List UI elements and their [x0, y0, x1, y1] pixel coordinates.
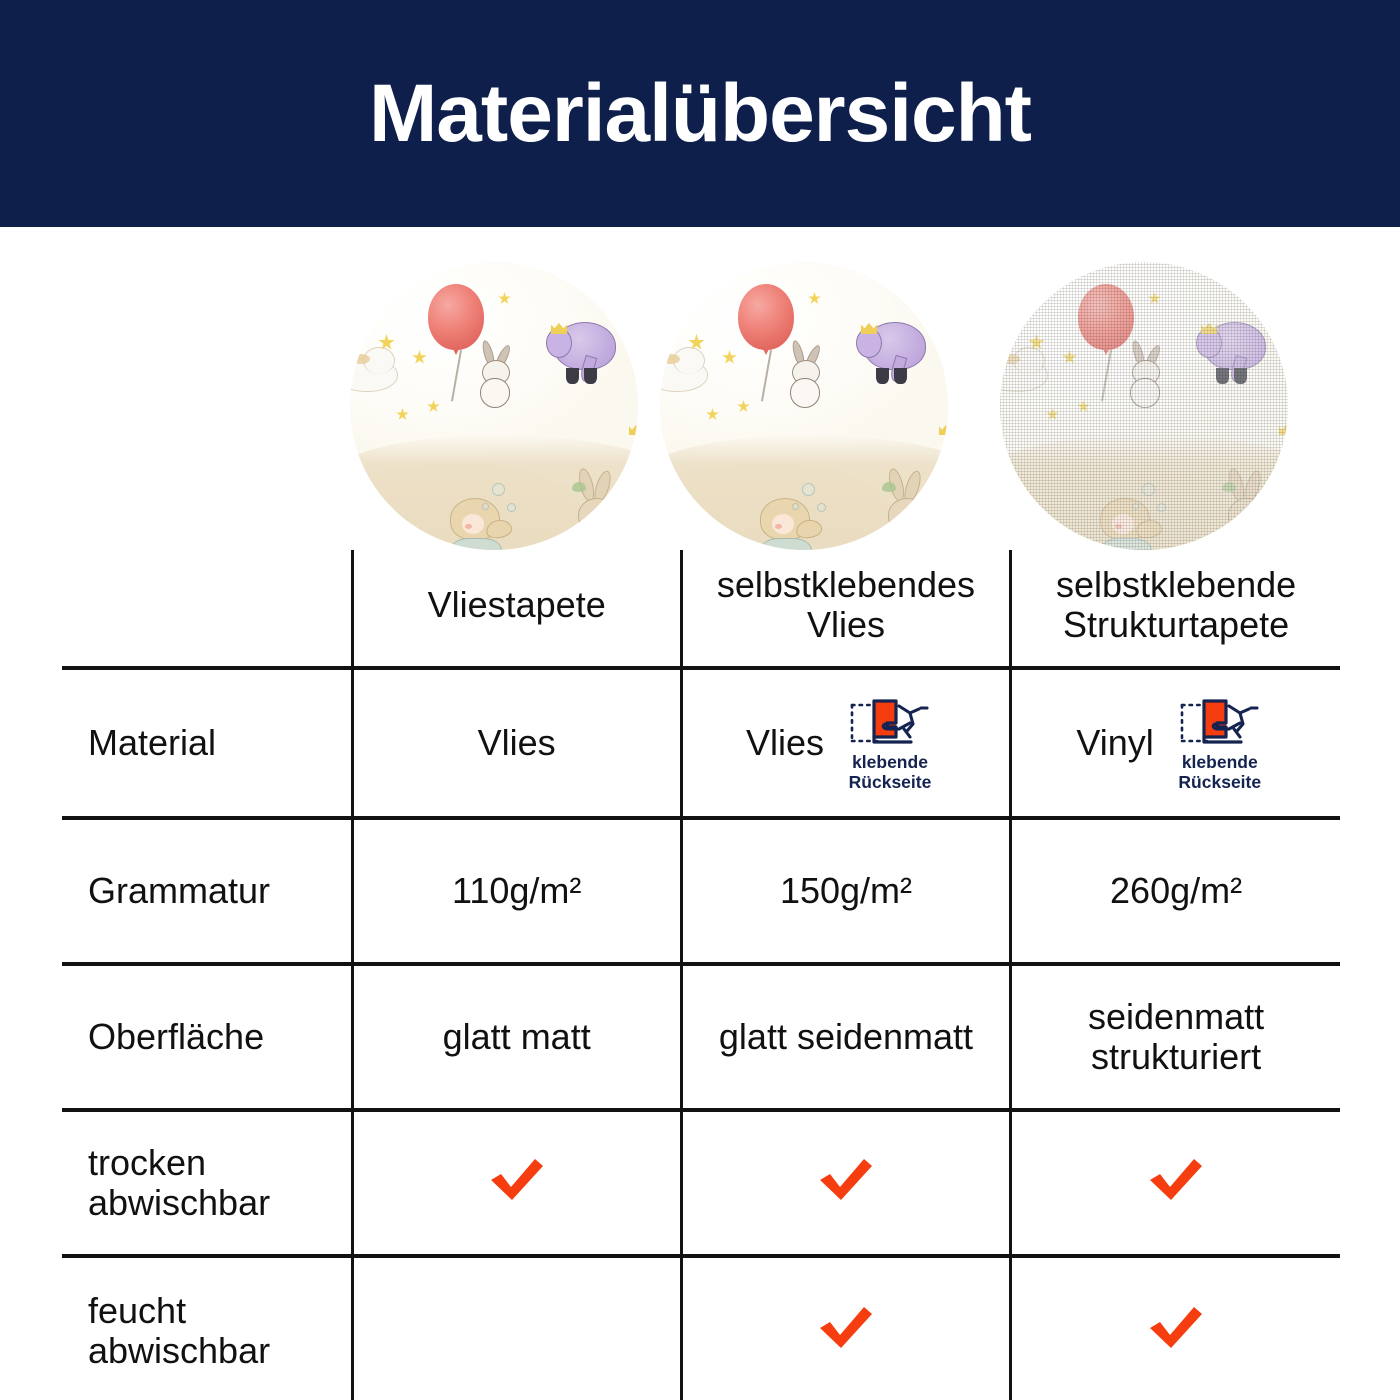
- bubble-icon: [817, 503, 826, 512]
- cell-grammatur-selbstklebendes-vlies: 150g/m²: [681, 818, 1010, 964]
- cell-trocken-selbstklebendes-vlies: [681, 1110, 1010, 1256]
- table-row-material: Material Vlies Vlies: [62, 668, 1340, 818]
- cloud-shadow: [352, 354, 370, 364]
- ground-bunny-icon: [880, 468, 934, 534]
- peel-adhesive-backing-icon: [1177, 693, 1263, 751]
- wallpaper-artwork: [350, 262, 638, 550]
- badge-text: klebendeRückseite: [849, 753, 932, 792]
- row-label-oberflaeche: Oberfläche: [62, 964, 352, 1110]
- table-row-trocken-abwischbar: trocken abwischbar: [62, 1110, 1340, 1256]
- row-label-grammatur: Grammatur: [62, 818, 352, 964]
- header-banner: Materialübersicht: [0, 0, 1400, 227]
- child-icon: [446, 494, 518, 550]
- row-label-material: Material: [62, 668, 352, 818]
- cell-feucht-vliestapete: [352, 1256, 681, 1400]
- table-row-oberflaeche: Oberfläche glatt matt glatt seidenmatt s…: [62, 964, 1340, 1110]
- checkmark-icon: [1144, 1301, 1208, 1353]
- cell-text: Vinyl: [1076, 723, 1153, 763]
- adhesive-backing-badge: klebendeRückseite: [834, 693, 946, 792]
- bubble-icon: [792, 503, 799, 510]
- column-header-vliestapete: Vliestapete: [352, 550, 681, 668]
- cell-material-strukturtapete: Vinyl: [1011, 668, 1340, 818]
- checkmark-icon: [814, 1301, 878, 1353]
- row-label-trocken-abwischbar: trocken abwischbar: [62, 1110, 352, 1256]
- adhesive-backing-badge: klebendeRückseite: [1164, 693, 1276, 792]
- cell-grammatur-vliestapete: 110g/m²: [352, 818, 681, 964]
- cloud-shadow: [662, 354, 680, 364]
- cell-feucht-strukturtapete: [1011, 1256, 1340, 1400]
- table-header-row: Vliestapete selbstklebendes Vlies selbst…: [62, 550, 1340, 668]
- bubble-icon: [802, 483, 815, 496]
- flying-bunny-icon: [472, 340, 528, 412]
- elephant-icon: [854, 314, 942, 386]
- cell-trocken-strukturtapete: [1011, 1110, 1340, 1256]
- checkmark-icon: [814, 1153, 878, 1205]
- material-overview-page: Materialübersicht: [0, 0, 1400, 1400]
- sprout-icon: [882, 482, 896, 492]
- cell-oberflaeche-strukturtapete: seidenmatt strukturiert: [1011, 964, 1340, 1110]
- bubble-icon: [482, 503, 489, 510]
- material-comparison-table: Vliestapete selbstklebendes Vlies selbst…: [62, 550, 1340, 1380]
- flying-bunny-icon: [782, 340, 838, 412]
- cell-text: Vlies: [746, 723, 824, 763]
- row-label-feucht-abwischbar: feucht abwischbar: [62, 1256, 352, 1400]
- sample-swatches: [0, 262, 1400, 550]
- checkmark-icon: [485, 1153, 549, 1205]
- bubble-icon: [492, 483, 505, 496]
- elephant-icon: [544, 314, 632, 386]
- column-header-selbstklebendes-vlies: selbstklebendes Vlies: [681, 550, 1010, 668]
- cell-text: Vlies: [478, 722, 556, 763]
- wallpaper-artwork: [1000, 262, 1288, 550]
- checkmark-icon: [1144, 1153, 1208, 1205]
- table-row-grammatur: Grammatur 110g/m² 150g/m² 260g/m²: [62, 818, 1340, 964]
- badge-text: klebendeRückseite: [1178, 753, 1261, 792]
- bubble-icon: [507, 503, 516, 512]
- page-title: Materialübersicht: [369, 73, 1031, 155]
- structure-texture-overlay: [1000, 262, 1288, 550]
- column-header-strukturtapete: selbstklebende Strukturtapete: [1011, 550, 1340, 668]
- cell-trocken-vliestapete: [352, 1110, 681, 1256]
- cell-material-vliestapete: Vlies: [352, 668, 681, 818]
- child-icon: [756, 494, 828, 550]
- sample-swatch-vliestapete: [350, 262, 638, 550]
- ground-bunny-icon: [570, 468, 624, 534]
- sample-swatch-strukturtapete: [1000, 262, 1288, 550]
- table-row-feucht-abwischbar: feucht abwischbar: [62, 1256, 1340, 1400]
- sprout-icon: [572, 482, 586, 492]
- cell-material-selbstklebendes-vlies: Vlies: [681, 668, 1010, 818]
- cell-oberflaeche-selbstklebendes-vlies: glatt seidenmatt: [681, 964, 1010, 1110]
- sample-swatch-selbstklebendes-vlies: [660, 262, 948, 550]
- column-header-empty: [62, 550, 352, 668]
- cell-feucht-selbstklebendes-vlies: [681, 1256, 1010, 1400]
- cell-grammatur-strukturtapete: 260g/m²: [1011, 818, 1340, 964]
- wallpaper-artwork: [660, 262, 948, 550]
- cell-oberflaeche-vliestapete: glatt matt: [352, 964, 681, 1110]
- peel-adhesive-backing-icon: [847, 693, 933, 751]
